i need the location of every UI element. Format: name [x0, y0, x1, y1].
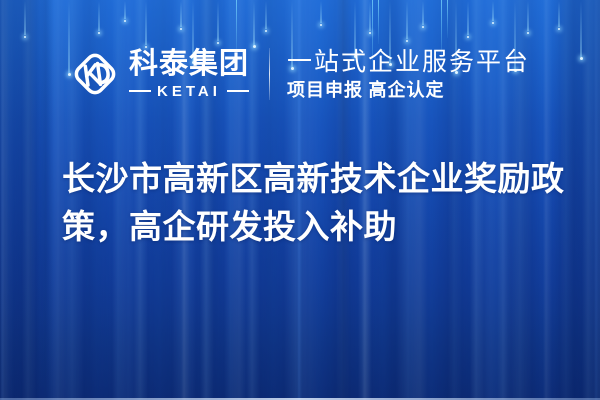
wordmark-rule-left: [129, 90, 151, 92]
ketai-logo-icon: [70, 49, 120, 99]
light-particle-dot: [320, 24, 322, 26]
promo-banner: 科泰集团 KETAI 一站式企业服务平台 项目申报 高企认定 长沙市高新区高新技…: [0, 0, 600, 400]
header-divider: [269, 48, 270, 100]
banner-header: 科泰集团 KETAI 一站式企业服务平台 项目申报 高企认定: [0, 38, 600, 110]
light-particle: [22, 0, 28, 38]
light-particle-tail: [181, 1, 182, 27]
light-particle-tail: [321, 1, 322, 23]
brand-name-en: KETAI: [157, 84, 221, 99]
banner-title: 长沙市高新区高新技术企业奖励政 策，高企研发投入补助: [62, 155, 567, 251]
light-particle-dot: [492, 22, 494, 24]
light-particle: [465, 0, 471, 38]
light-particle-tail: [266, 1, 267, 29]
light-particle-dot: [422, 26, 424, 28]
light-particle: [122, 0, 128, 22]
light-particle-dot: [180, 28, 182, 30]
wordmark-rule-right: [227, 90, 249, 92]
light-particle: [318, 0, 324, 26]
light-particle-dot: [98, 32, 100, 34]
light-particle-tail: [125, 1, 126, 19]
light-particle-tail: [218, 1, 219, 41]
light-particle: [420, 0, 426, 28]
light-particle-tail: [559, 1, 560, 27]
light-particle-tail: [468, 1, 469, 35]
light-particle: [556, 0, 562, 30]
light-particle-tail: [370, 1, 371, 31]
light-particle-dot: [369, 32, 371, 34]
light-particle-dot: [265, 30, 267, 32]
brand-name-en-row: KETAI: [129, 84, 249, 99]
light-particle-dot: [124, 20, 126, 22]
light-particle-tail: [407, 1, 408, 39]
light-particle-dot: [558, 28, 560, 30]
brand-name-cn: 科泰集团: [129, 50, 249, 79]
light-particle: [263, 0, 269, 32]
brand-lockup: 科泰集团 KETAI: [70, 49, 249, 99]
light-particle: [178, 0, 184, 30]
light-particle: [96, 0, 102, 34]
light-beam: [447, 0, 448, 38]
light-particle: [367, 0, 373, 34]
slogan-sub: 项目申报 高企认定: [287, 81, 530, 99]
slogan-block: 一站式企业服务平台 项目申报 高企认定: [287, 50, 530, 99]
banner-title-line-1: 长沙市高新区高新技术企业奖励政: [62, 160, 565, 197]
light-particle-tail: [493, 1, 494, 21]
light-particle: [525, 0, 531, 34]
light-particle-tail: [423, 1, 424, 25]
light-particle-tail: [528, 1, 529, 31]
light-particle-tail: [25, 1, 26, 35]
light-particle-tail: [99, 1, 100, 31]
light-particle: [404, 0, 410, 42]
light-particle: [490, 0, 496, 24]
banner-title-line-2: 策，高企研发投入补助: [62, 208, 397, 245]
light-particle-dot: [527, 32, 529, 34]
slogan-main: 一站式企业服务平台: [287, 50, 530, 75]
brand-wordmark: 科泰集团 KETAI: [129, 50, 249, 99]
